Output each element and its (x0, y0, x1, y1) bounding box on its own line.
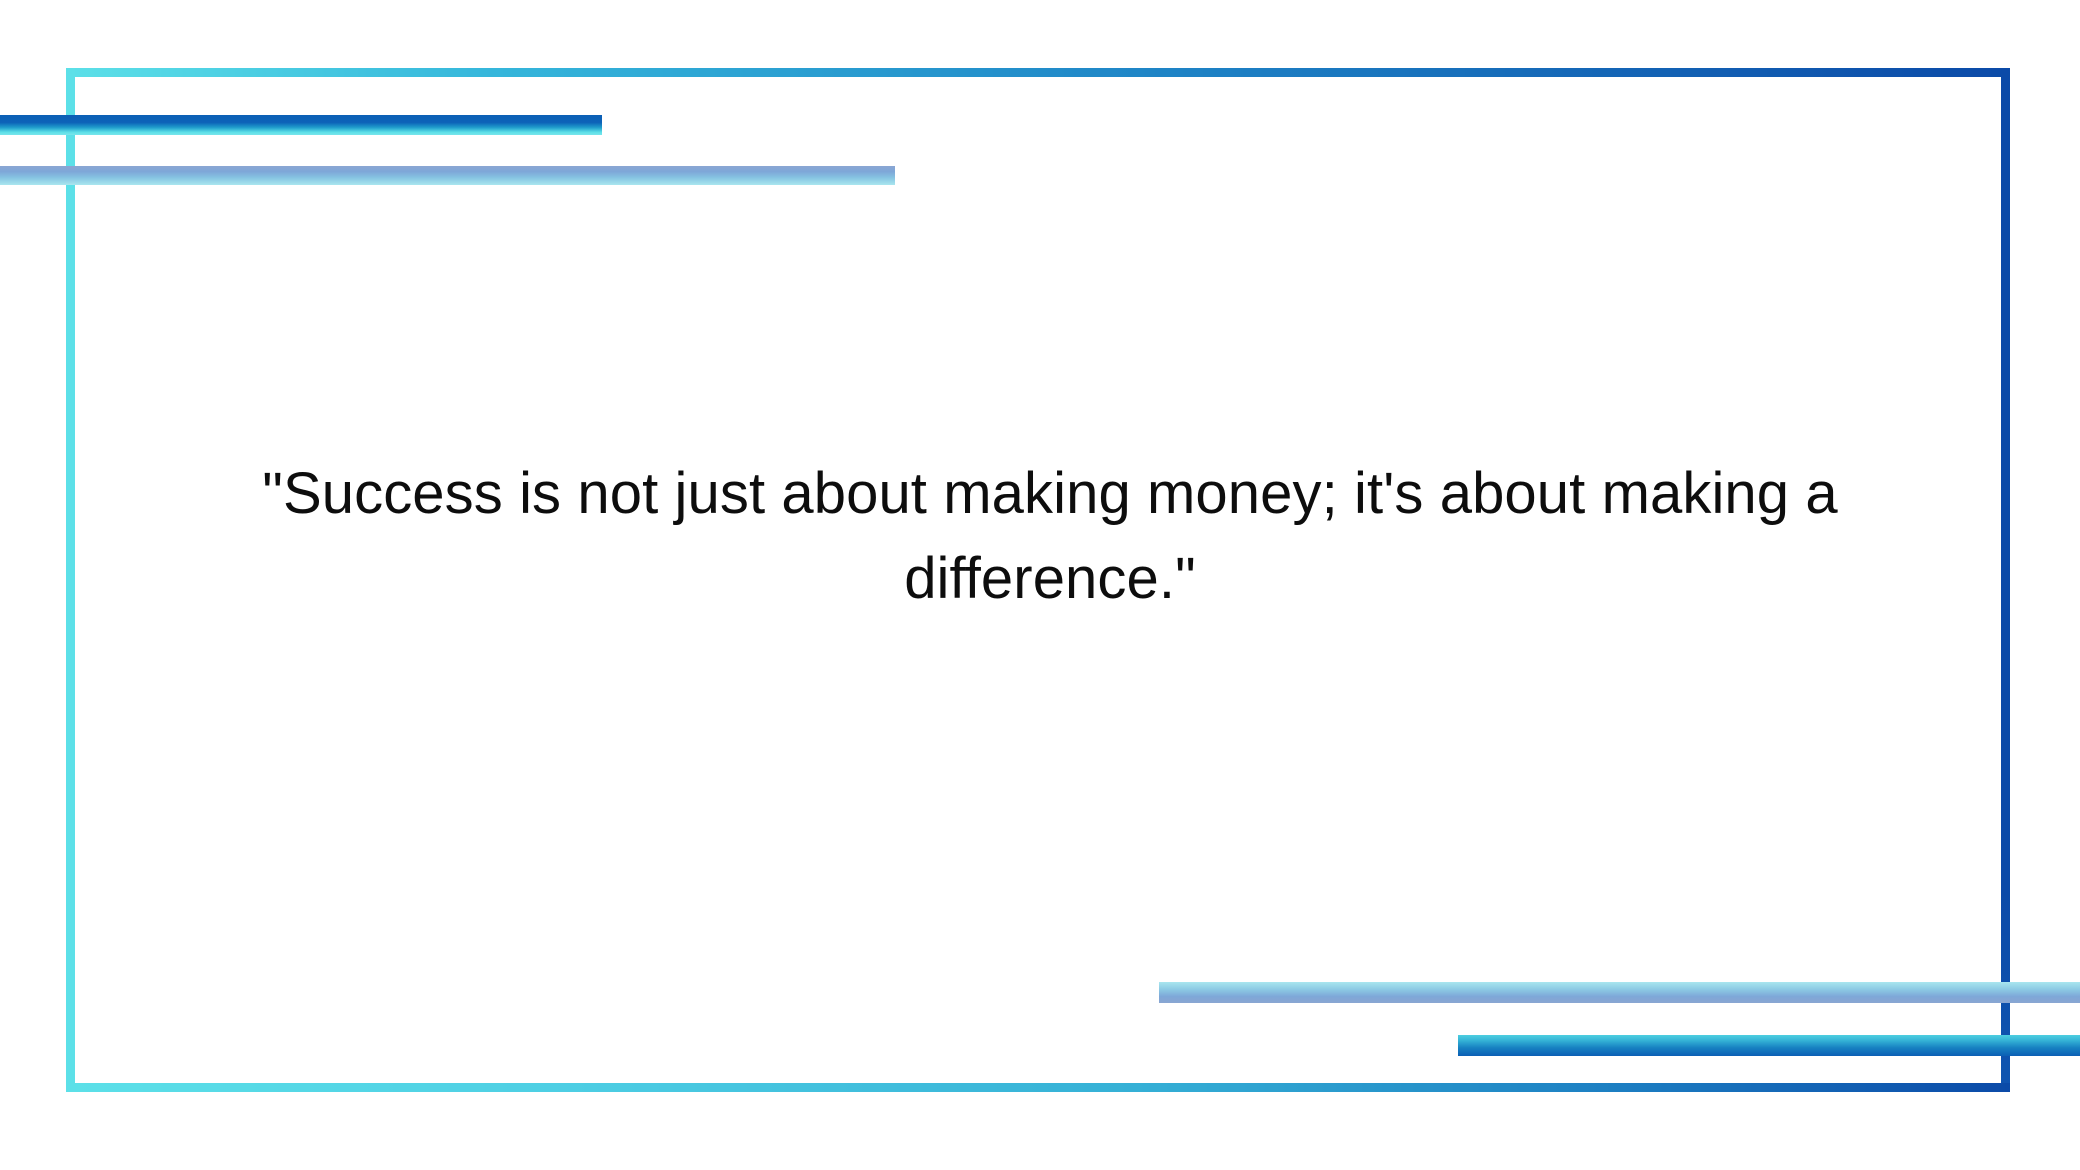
top-left-dark-bar (0, 115, 602, 135)
slide-canvas: "Success is not just about making money;… (0, 0, 2080, 1170)
frame-right-border (2001, 68, 2010, 1092)
top-left-light-bar (0, 166, 895, 185)
bottom-right-light-bar (1159, 982, 2080, 1003)
quote-block: "Success is not just about making money;… (170, 452, 1930, 621)
quote-text: "Success is not just about making money;… (170, 452, 1930, 621)
frame-left-border (66, 68, 75, 1092)
frame-top-border (66, 68, 2010, 77)
frame-bottom-border (66, 1083, 2010, 1092)
bottom-right-dark-bar (1458, 1035, 2080, 1056)
